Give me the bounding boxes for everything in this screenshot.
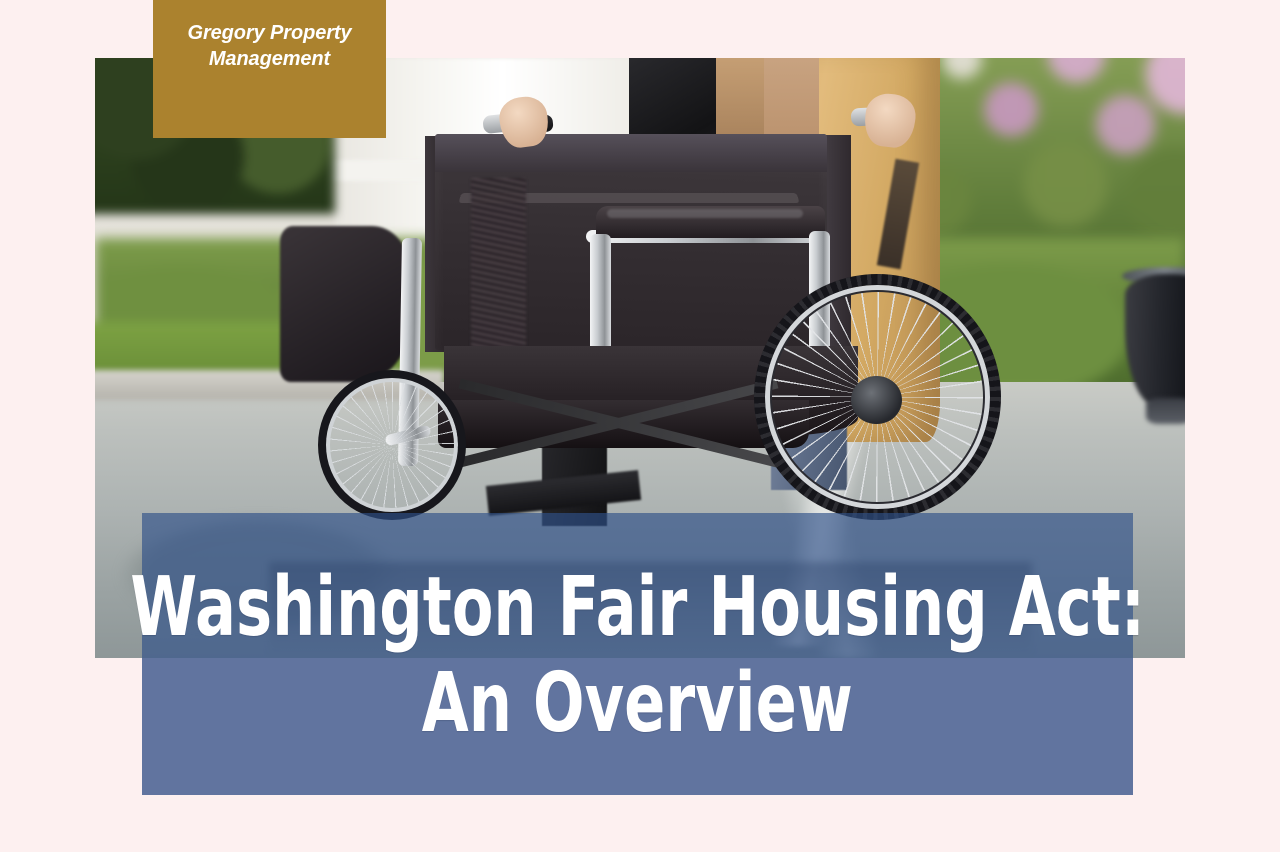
wheelchair-armrest-highlight [607, 209, 803, 217]
photo-planter-b-foot [1146, 398, 1185, 424]
photo-tan-scarf [716, 58, 764, 142]
page-title-line-2: An Overview [422, 664, 853, 744]
page-title-line-1: Washington Fair Housing Act: [130, 568, 1145, 648]
logo-badge-text: Gregory Property Management [173, 21, 365, 72]
title-overlay: Washington Fair Housing Act: An Overview [142, 513, 1133, 795]
wheelchair-front-wheel [318, 370, 465, 520]
logo-badge[interactable]: Gregory Property Management [153, 0, 386, 138]
page-title: Washington Fair Housing Act: An Overview [142, 513, 1133, 795]
page-canvas: Gregory Property Management Washington F… [0, 0, 1280, 852]
wheelchair-backrest-top [435, 134, 827, 172]
wheelchair-side-texture [471, 178, 526, 370]
wheelchair-left-body [280, 226, 411, 382]
logo-badge-line-2: Management [187, 47, 351, 73]
wheelchair-wheel-hub [851, 376, 901, 424]
logo-badge-line-1: Gregory Property [187, 21, 351, 47]
